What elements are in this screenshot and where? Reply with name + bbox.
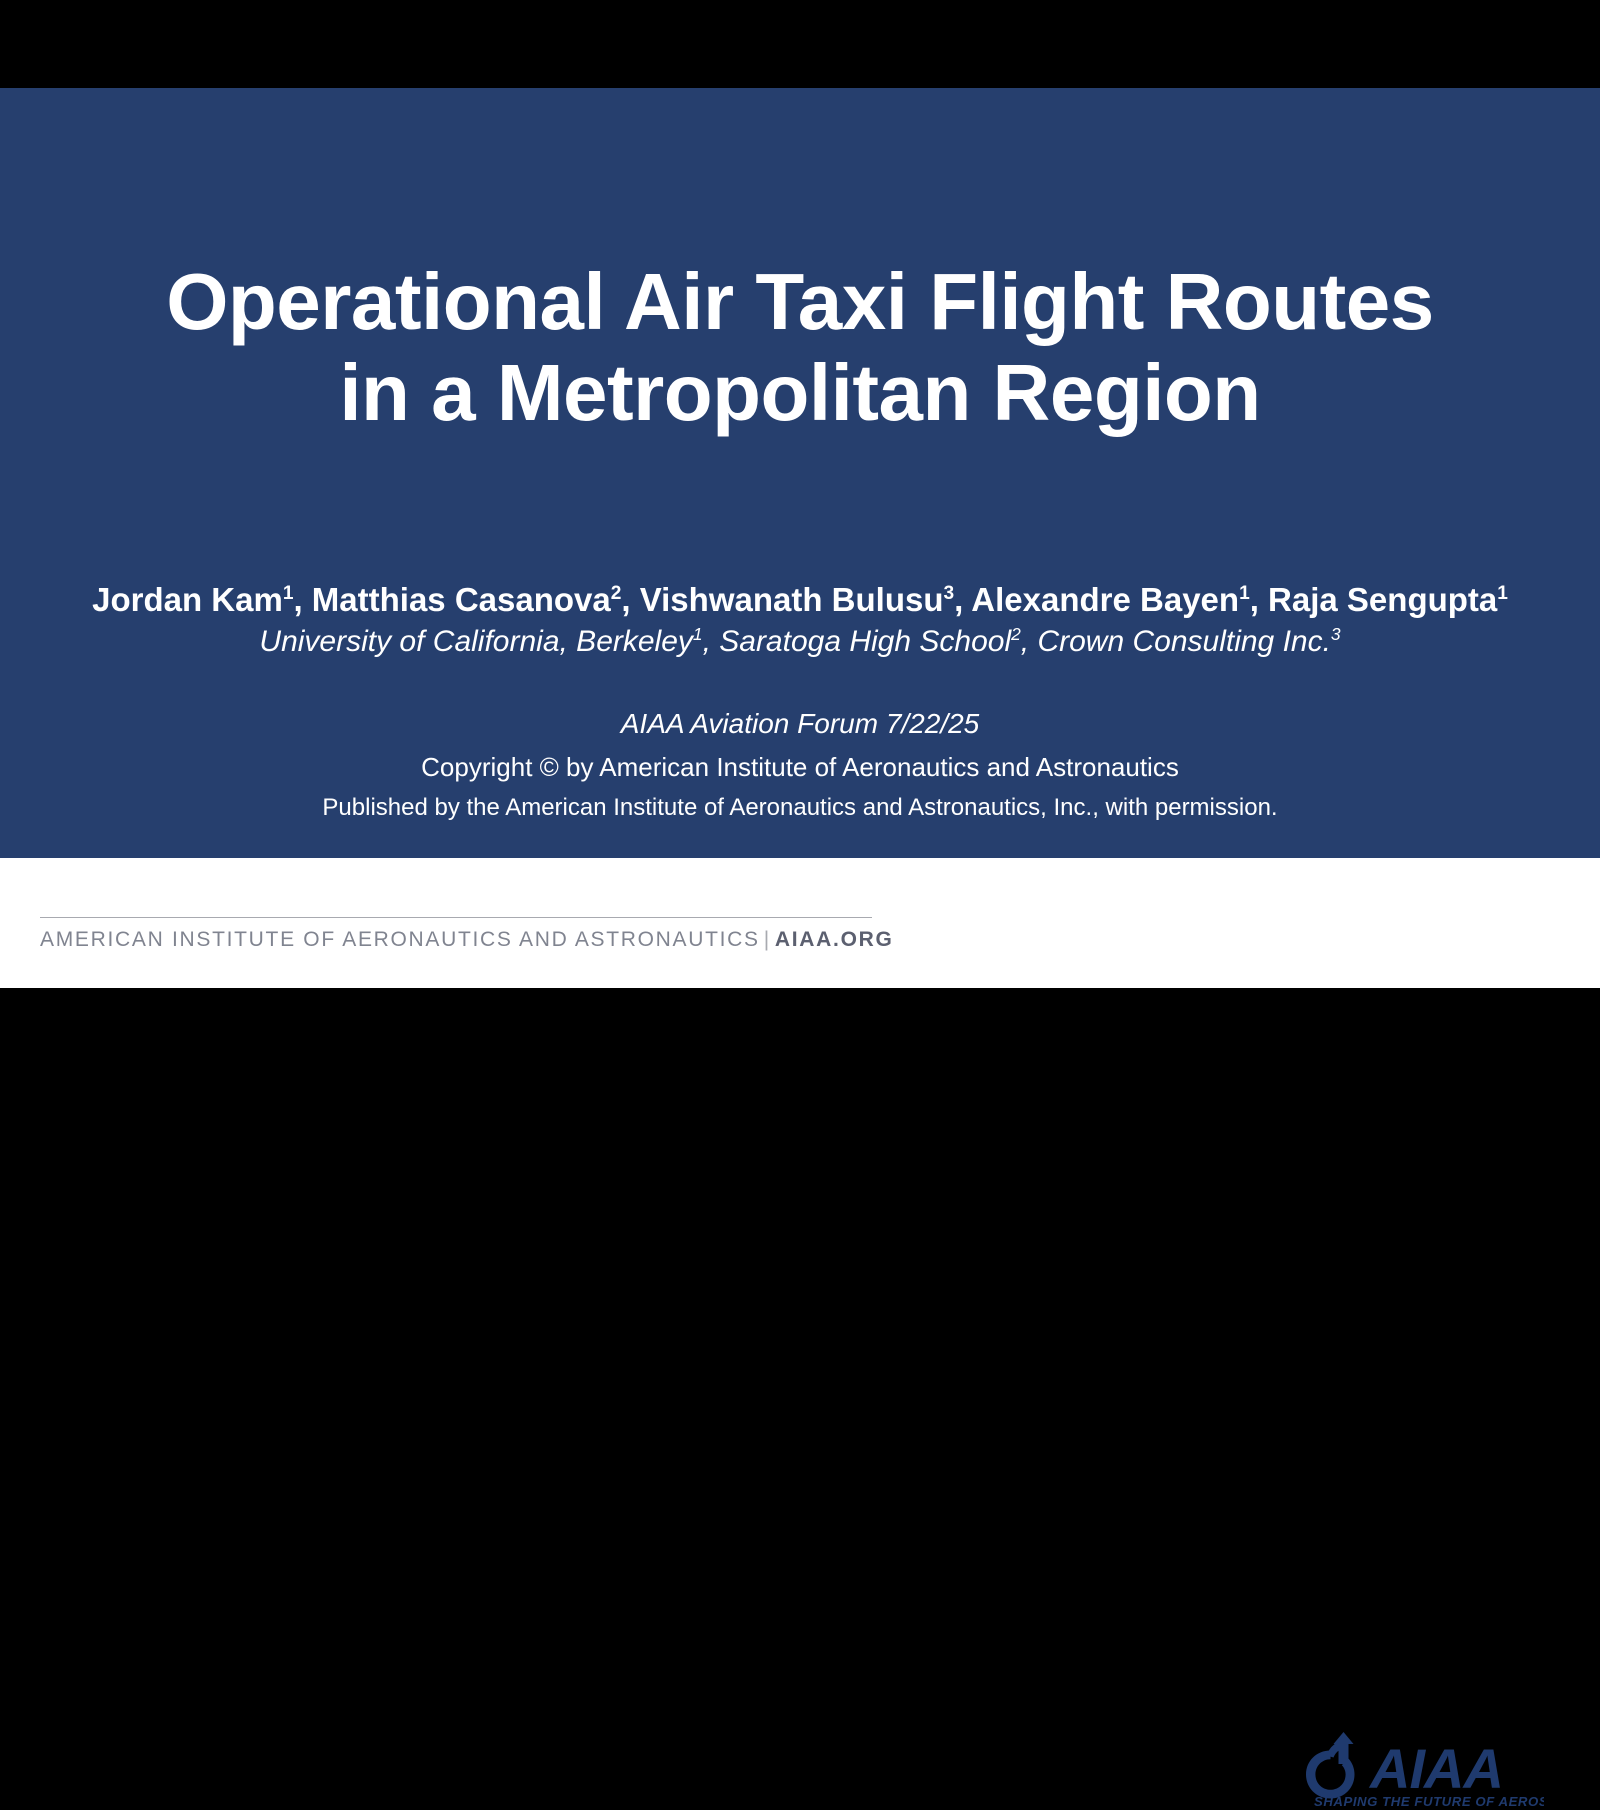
- author-list: Jordan Kam1, Matthias Casanova2, Vishwan…: [0, 580, 1600, 620]
- affiliation-separator: ,: [703, 625, 720, 658]
- author-name: Matthias Casanova: [312, 581, 611, 618]
- author-name: Raja Sengupta: [1268, 581, 1497, 618]
- author-separator: ,: [293, 581, 311, 618]
- footer-divider: [40, 917, 872, 918]
- author-affiliation-marker: 1: [1497, 583, 1508, 604]
- author-entry: Vishwanath Bulusu3,: [640, 581, 972, 618]
- aiaa-tagline: SHAPING THE FUTURE OF AEROSPACE: [1314, 1794, 1544, 1809]
- affiliation-name: Saratoga High School: [719, 625, 1011, 658]
- slide-footer: AMERICAN INSTITUTE OF AERONAUTICS AND AS…: [0, 858, 1600, 988]
- footer-institute-label: AMERICAN INSTITUTE OF AERONAUTICS AND AS…: [40, 928, 760, 951]
- aiaa-circle-arrow-mark: [1306, 1732, 1355, 1799]
- page-title: Operational Air Taxi Flight Routes in a …: [0, 256, 1600, 438]
- author-name: Vishwanath Bulusu: [640, 581, 944, 618]
- author-affiliation-marker: 1: [283, 583, 294, 604]
- permission-line: Published by the American Institute of A…: [0, 791, 1600, 826]
- author-entry: Raja Sengupta1: [1268, 581, 1508, 618]
- aiaa-wordmark: AIAA: [1368, 1737, 1503, 1800]
- author-entry: Alexandre Bayen1,: [971, 581, 1268, 618]
- copyright-line: Copyright © by American Institute of Aer…: [0, 749, 1600, 787]
- title-line-1: Operational Air Taxi Flight Routes: [0, 256, 1600, 347]
- affiliation-list: University of California, Berkeley1, Sar…: [0, 623, 1600, 661]
- affiliation-separator: ,: [1021, 625, 1038, 658]
- letterbox-bar-bottom: [0, 988, 1600, 1035]
- letterbox-bar-top: [0, 0, 1600, 88]
- affiliation-entry: Saratoga High School2,: [719, 625, 1037, 658]
- aiaa-logo: AIAA SHAPING THE FUTURE OF AEROSPACE: [1296, 1730, 1544, 1810]
- conference-meta-block: AIAA Aviation Forum 7/22/25 Copyright © …: [0, 705, 1600, 826]
- author-separator: ,: [1250, 581, 1268, 618]
- author-name: Alexandre Bayen: [971, 581, 1239, 618]
- affiliation-entry: University of California, Berkeley1,: [259, 625, 719, 658]
- author-affiliation-marker: 2: [611, 583, 622, 604]
- affiliation-name: University of California, Berkeley: [259, 625, 693, 658]
- title-block: Operational Air Taxi Flight Routes in a …: [0, 256, 1600, 438]
- author-name: Jordan Kam: [92, 581, 283, 618]
- author-affiliation-marker: 1: [1239, 583, 1250, 604]
- presentation-slide: Operational Air Taxi Flight Routes in a …: [0, 0, 1600, 1035]
- footer-separator: |: [764, 928, 771, 951]
- footer-institute-text: AMERICAN INSTITUTE OF AERONAUTICS AND AS…: [40, 928, 894, 952]
- author-entry: Matthias Casanova2,: [312, 581, 640, 618]
- affiliation-marker: 1: [693, 624, 703, 644]
- title-slide-panel: Operational Air Taxi Flight Routes in a …: [0, 88, 1600, 858]
- author-separator: ,: [954, 581, 971, 618]
- author-affiliation-marker: 3: [944, 583, 955, 604]
- forum-line: AIAA Aviation Forum 7/22/25: [0, 705, 1600, 743]
- authors-block: Jordan Kam1, Matthias Casanova2, Vishwan…: [0, 580, 1600, 661]
- author-separator: ,: [621, 581, 639, 618]
- footer-website: AIAA.ORG: [775, 928, 894, 951]
- title-line-2: in a Metropolitan Region: [0, 347, 1600, 438]
- affiliation-marker: 3: [1331, 624, 1341, 644]
- affiliation-name: Crown Consulting Inc.: [1037, 625, 1330, 658]
- author-entry: Jordan Kam1,: [92, 581, 312, 618]
- affiliation-entry: Crown Consulting Inc.3: [1037, 625, 1340, 658]
- affiliation-marker: 2: [1011, 624, 1021, 644]
